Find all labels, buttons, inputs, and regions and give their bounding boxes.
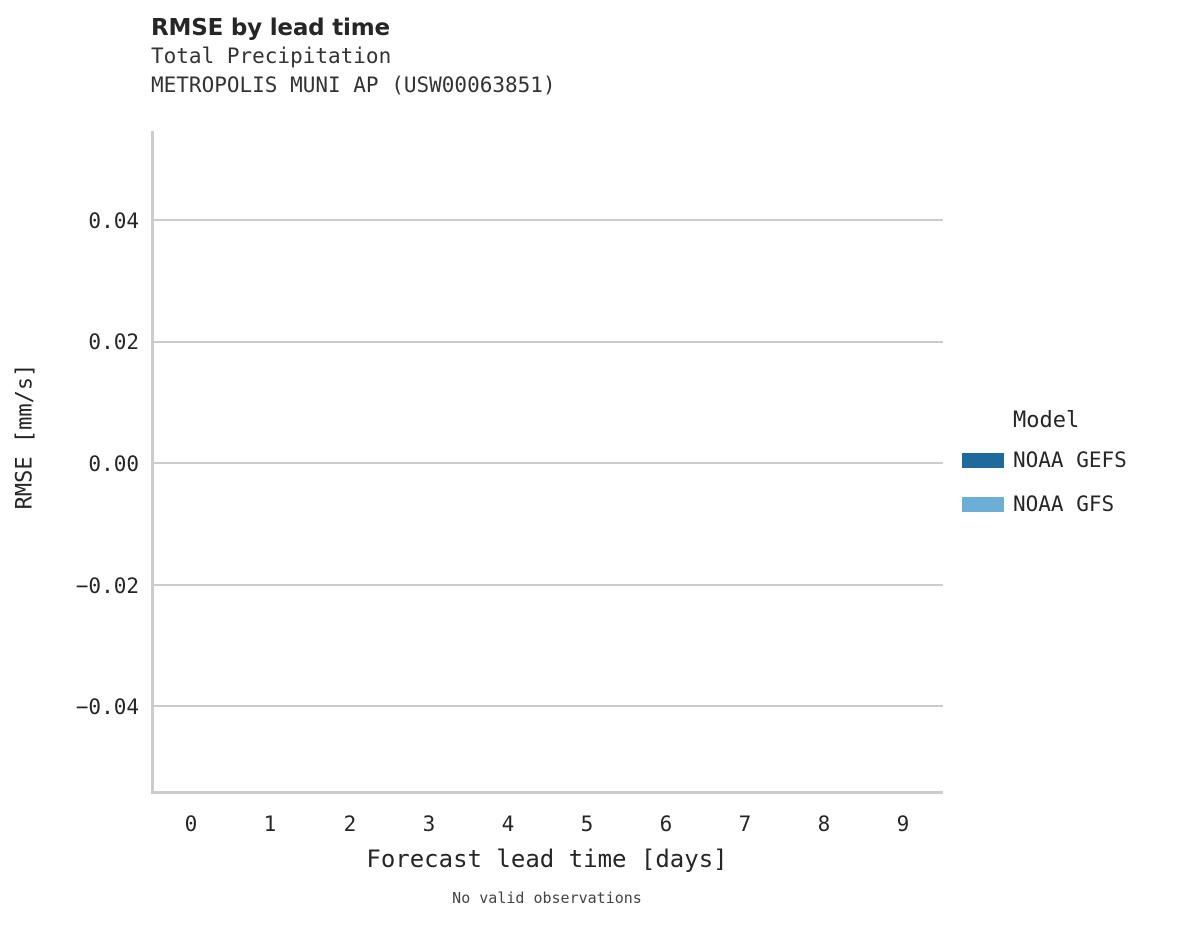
chart-header: RMSE by lead time Total Precipitation ME… — [151, 14, 951, 100]
legend: Model NOAA GEFS NOAA GFS — [962, 408, 1182, 522]
x-tick-label: 6 — [646, 814, 686, 835]
legend-item-label: NOAA GEFS — [1013, 448, 1127, 472]
legend-swatch-icon — [962, 497, 1004, 512]
legend-item-label: NOAA GFS — [1013, 492, 1114, 516]
page-title: RMSE by lead time — [151, 14, 951, 42]
legend-title: Model — [962, 408, 1182, 434]
gridline--0.02 — [151, 584, 943, 586]
x-tick-label: 7 — [725, 814, 765, 835]
x-tick-label: 9 — [883, 814, 923, 835]
gridline-0.04 — [151, 219, 943, 221]
x-axis-title: Forecast lead time [days] — [151, 845, 943, 873]
x-tick-label: 1 — [250, 814, 290, 835]
gridline-0.00 — [151, 462, 943, 464]
x-tick-label: 8 — [804, 814, 844, 835]
chart-subtitle: Total Precipitation — [151, 42, 951, 71]
x-tick-label: 3 — [409, 814, 449, 835]
x-tick-label: 4 — [488, 814, 528, 835]
chart-station-label: METROPOLIS MUNI AP (USW00063851) — [151, 71, 951, 100]
y-tick-label: 0.04 — [19, 211, 139, 232]
x-tick-label: 2 — [330, 814, 370, 835]
gridline-0.02 — [151, 341, 943, 343]
legend-item-noaa-gfs[interactable]: NOAA GFS — [962, 486, 1182, 522]
legend-item-noaa-gefs[interactable]: NOAA GEFS — [962, 442, 1182, 478]
gridline--0.04 — [151, 705, 943, 707]
y-tick-label: −0.02 — [19, 576, 139, 597]
y-tick-label: −0.04 — [19, 697, 139, 718]
x-tick-label: 5 — [567, 814, 607, 835]
y-axis-title: RMSE [mm/s] — [13, 307, 38, 567]
x-tick-label: 0 — [171, 814, 211, 835]
plot-area — [151, 131, 943, 792]
no-data-note: No valid observations — [151, 889, 943, 907]
legend-swatch-icon — [962, 453, 1004, 468]
